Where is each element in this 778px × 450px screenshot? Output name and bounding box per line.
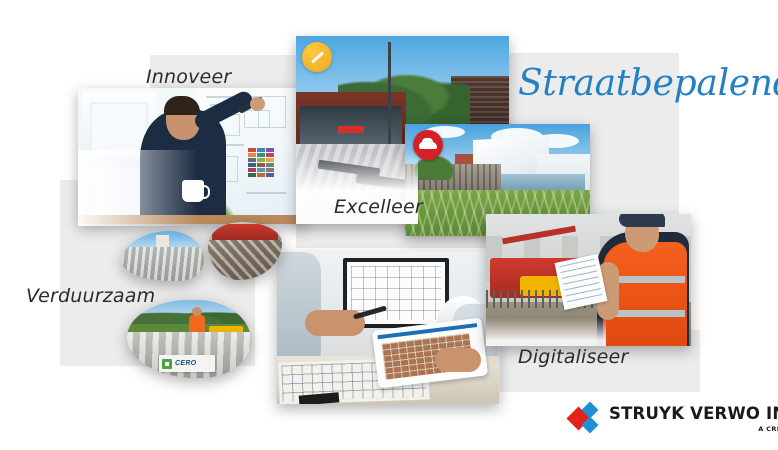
concrete-debris (208, 240, 282, 280)
car-icon (419, 142, 437, 149)
pillar-label-innoveer: Innoveer (146, 66, 231, 88)
excavator-bucket (212, 224, 278, 240)
photo-digitaliseer-worker (486, 214, 691, 346)
no-car-badge (413, 130, 443, 160)
brand-logo: STRUYK VERWO INFRA A CRH COMPANY (570, 404, 778, 434)
collage-canvas: CERO Innoveer Excelleer Verduurzaam Digi… (0, 0, 778, 450)
pillar-label-verduurzaam: Verduurzaam (26, 285, 155, 307)
diamond-logo-icon (570, 404, 600, 434)
pillar-label-excelleer: Excelleer (334, 196, 423, 218)
photo-tablet-meeting (277, 252, 499, 404)
pencil-badge (302, 42, 332, 72)
cero-label: CERO (159, 355, 215, 372)
person-hair (164, 96, 200, 115)
person-left-arm (277, 252, 321, 362)
photo-demolition-rubble (208, 222, 282, 280)
red-sign (338, 126, 364, 133)
pillar-label-digitaliseer: Digitaliseer (518, 346, 628, 368)
colour-swatches (248, 148, 274, 184)
worker-cap (619, 214, 665, 227)
logo-company-name: STRUYK VERWO INFRA (609, 405, 778, 422)
person-right-hand (435, 348, 481, 372)
photo-cero-slab: CERO (127, 300, 251, 378)
logo-tagline: A CRH COMPANY (758, 425, 778, 433)
photo-innoveer-whiteboard (78, 88, 306, 224)
cero-label-text: CERO (175, 360, 196, 367)
headline-tagline: Straatbepalend. (518, 63, 778, 104)
coffee-mug (182, 180, 204, 202)
photo-city-rooftops (122, 231, 204, 281)
cero-logo-icon (162, 359, 172, 369)
rooftop-field (122, 247, 204, 281)
person-hand (250, 97, 265, 111)
lamp-post (388, 42, 391, 146)
